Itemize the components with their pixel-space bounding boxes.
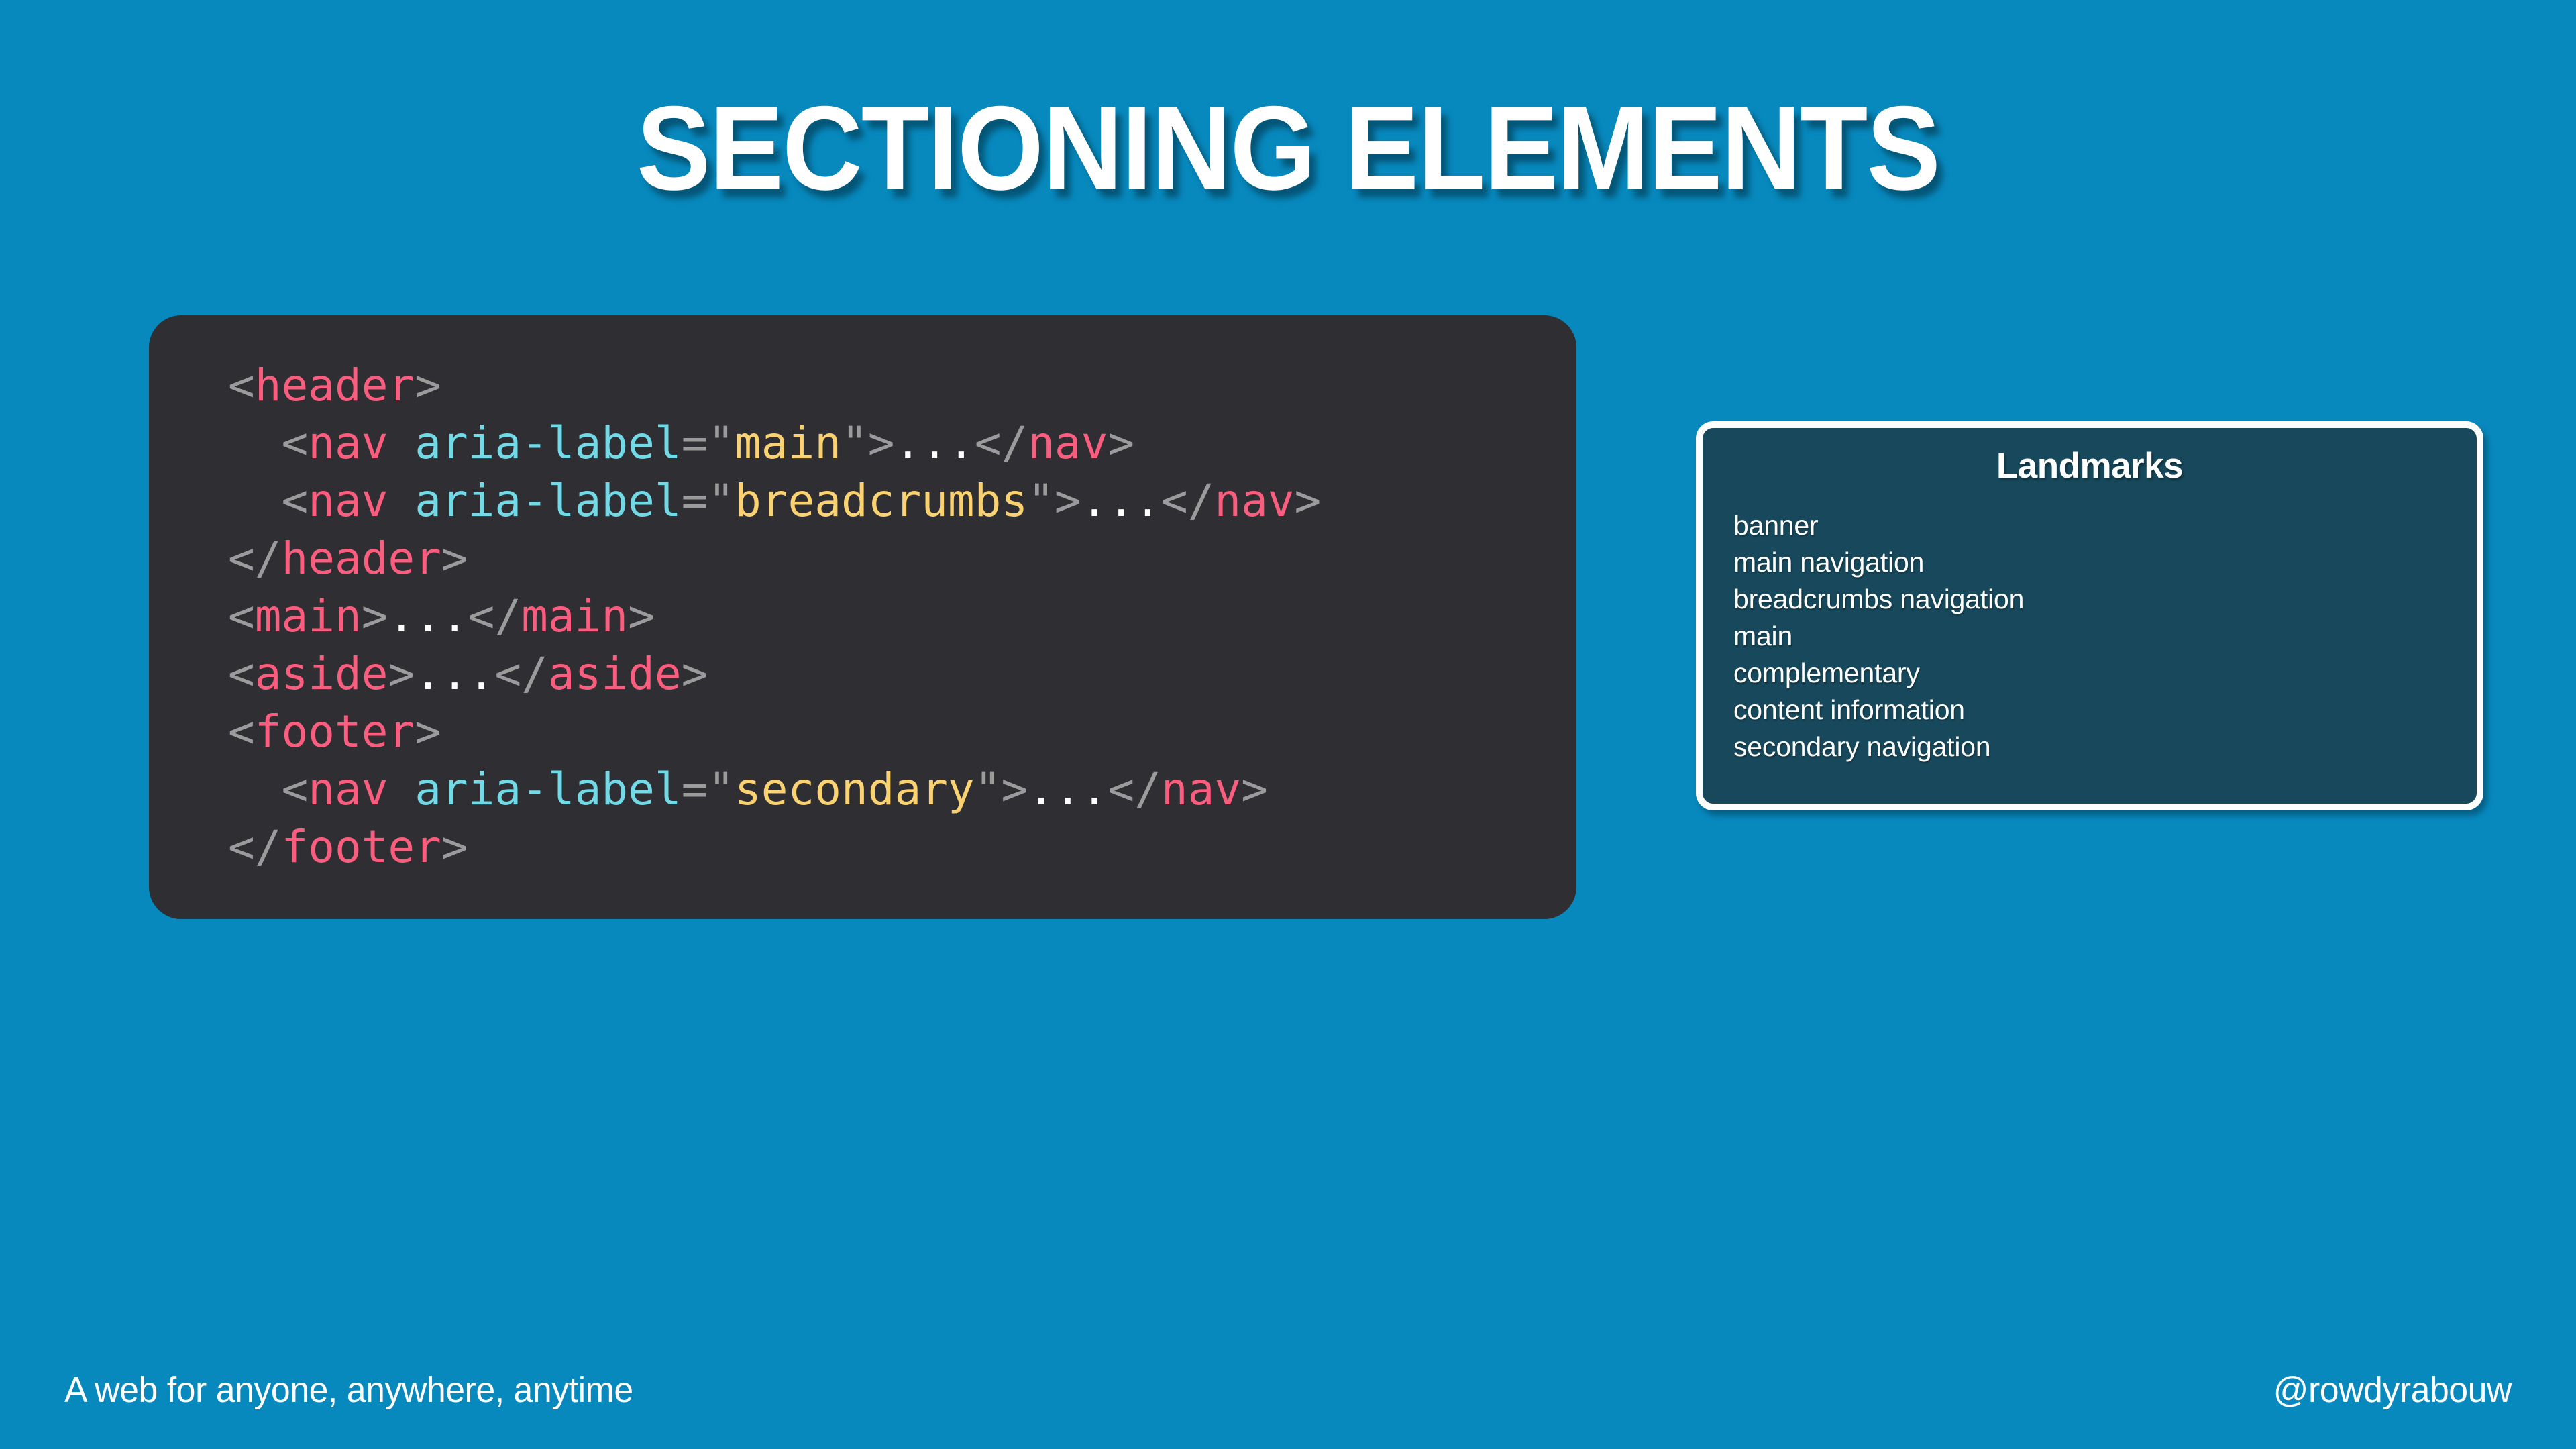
code-token-punct: </	[1108, 763, 1161, 815]
code-token-dots: ...	[1028, 763, 1108, 815]
code-token-punct: </	[228, 533, 281, 584]
code-block: <header> <nav aria-label="main">...</nav…	[228, 357, 1321, 876]
code-token-tag: main	[521, 590, 628, 642]
code-token-val: secondary	[735, 763, 975, 815]
footer-tagline: A web for anyone, anywhere, anytime	[64, 1369, 633, 1411]
code-line: <aside>...</aside>	[228, 645, 1321, 703]
code-token-tag: nav	[1161, 763, 1241, 815]
code-token-val: breadcrumbs	[735, 475, 1028, 527]
code-token-tag: nav	[308, 475, 388, 527]
code-token-dots: ...	[388, 590, 468, 642]
landmark-item: banner	[1733, 507, 2477, 544]
code-line: <nav aria-label="main">...</nav>	[228, 415, 1321, 472]
code-token-punct: ="	[682, 475, 735, 527]
code-token-punct	[388, 417, 415, 469]
code-token-punct: >	[1108, 417, 1134, 469]
slide-footer: A web for anyone, anywhere, anytime @row…	[0, 1363, 2576, 1417]
code-token-punct: </	[468, 590, 521, 642]
code-token-punct: <	[228, 590, 255, 642]
code-token-punct: <	[228, 648, 255, 700]
code-token-dots: ...	[1081, 475, 1161, 527]
code-token-tag: footer	[255, 706, 415, 757]
page-title: SECTIONING ELEMENTS	[90, 86, 2485, 211]
code-line: </footer>	[228, 818, 1321, 876]
code-token-tag: aside	[548, 648, 682, 700]
code-line: <nav aria-label="breadcrumbs">...</nav>	[228, 472, 1321, 530]
code-indent	[228, 475, 281, 527]
code-indent	[228, 417, 281, 469]
landmark-item: main navigation	[1733, 544, 2477, 581]
code-token-punct: >	[415, 706, 441, 757]
code-token-tag: nav	[1028, 417, 1108, 469]
code-token-punct: >	[362, 590, 388, 642]
code-token-dots: ...	[415, 648, 494, 700]
code-token-punct: ">	[841, 417, 894, 469]
code-token-punct	[388, 475, 415, 527]
landmarks-title: Landmarks	[1703, 447, 2477, 486]
code-token-punct: >	[1241, 763, 1268, 815]
code-token-attr: aria-label	[415, 475, 681, 527]
code-token-punct: ="	[682, 763, 735, 815]
code-token-val: main	[735, 417, 841, 469]
code-token-punct: <	[281, 417, 308, 469]
code-token-attr: aria-label	[415, 417, 681, 469]
landmarks-panel: Landmarks bannermain navigationbreadcrum…	[1696, 421, 2483, 810]
code-token-punct: ="	[682, 417, 735, 469]
code-token-punct: <	[281, 763, 308, 815]
code-token-tag: main	[255, 590, 362, 642]
code-line: <nav aria-label="secondary">...</nav>	[228, 761, 1321, 818]
code-token-punct: >	[682, 648, 708, 700]
landmark-item: complementary	[1733, 655, 2477, 692]
code-token-punct: <	[281, 475, 308, 527]
code-token-punct: >	[388, 648, 415, 700]
code-token-tag: footer	[281, 821, 441, 873]
code-token-punct: >	[628, 590, 655, 642]
code-token-tag: header	[281, 533, 441, 584]
code-line: <main>...</main>	[228, 588, 1321, 645]
code-token-tag: nav	[308, 763, 388, 815]
code-token-tag: header	[255, 360, 415, 411]
code-token-punct: </	[228, 821, 281, 873]
code-token-punct: >	[441, 821, 468, 873]
landmark-item: secondary navigation	[1733, 729, 2477, 765]
code-token-punct: <	[228, 706, 255, 757]
code-token-punct: ">	[1028, 475, 1081, 527]
code-token-punct: >	[1295, 475, 1322, 527]
code-token-punct: >	[441, 533, 468, 584]
footer-handle: @rowdyrabouw	[2273, 1369, 2512, 1411]
code-token-tag: nav	[308, 417, 388, 469]
code-indent	[228, 763, 281, 815]
code-line: <footer>	[228, 703, 1321, 761]
code-token-tag: aside	[255, 648, 388, 700]
landmark-item: main	[1733, 618, 2477, 655]
landmark-item: breadcrumbs navigation	[1733, 581, 2477, 618]
code-line: </header>	[228, 530, 1321, 588]
code-token-punct	[388, 763, 415, 815]
code-token-punct: </	[494, 648, 547, 700]
code-token-punct: >	[415, 360, 441, 411]
code-token-attr: aria-label	[415, 763, 681, 815]
code-token-tag: nav	[1214, 475, 1294, 527]
code-token-punct: </	[975, 417, 1028, 469]
landmark-item: content information	[1733, 692, 2477, 729]
code-token-punct: <	[228, 360, 255, 411]
code-card: <header> <nav aria-label="main">...</nav…	[149, 315, 1576, 919]
code-token-punct: ">	[975, 763, 1028, 815]
code-line: <header>	[228, 357, 1321, 415]
code-token-punct: </	[1161, 475, 1214, 527]
code-token-dots: ...	[894, 417, 974, 469]
landmarks-list: bannermain navigationbreadcrumbs navigat…	[1703, 507, 2477, 765]
